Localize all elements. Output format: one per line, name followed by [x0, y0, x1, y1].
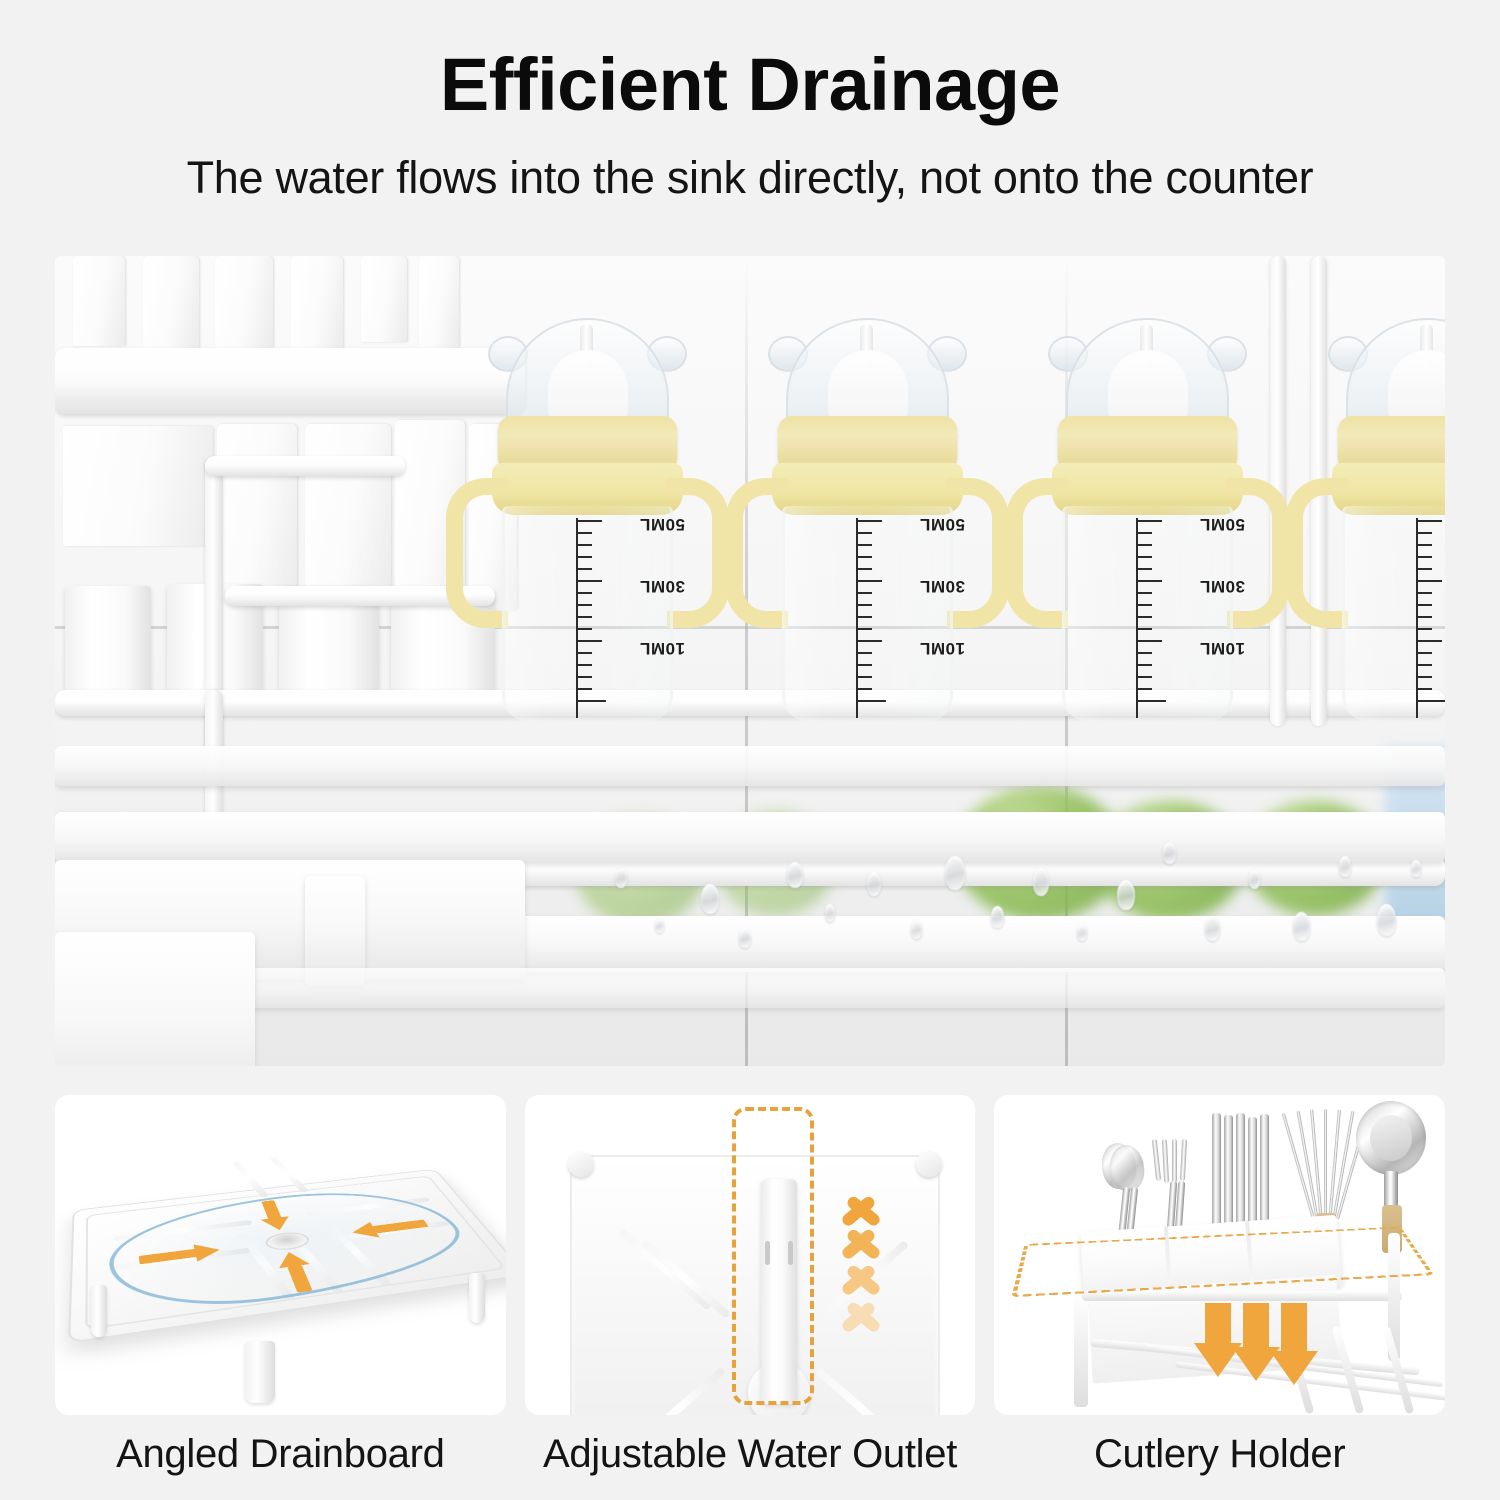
tray-groove	[641, 1239, 731, 1319]
water-droplet	[615, 868, 627, 888]
water-droplet	[1117, 880, 1135, 910]
corner-knob	[568, 1151, 594, 1177]
feature-panels-row	[55, 1095, 1445, 1415]
rack-upper-shelf	[55, 348, 525, 414]
drainboard-lip	[55, 968, 1445, 1008]
bottle-scale-label: 10ML	[794, 638, 965, 658]
tray-groove	[814, 1367, 910, 1415]
water-droplet	[1377, 904, 1396, 936]
baby-bottle: 50ML 30ML 10ML	[1320, 318, 1445, 718]
bottle-measure-scale	[856, 518, 858, 718]
panel-cutlery-holder	[994, 1095, 1445, 1415]
water-droplet	[911, 920, 922, 939]
water-droplet	[1077, 924, 1087, 941]
page-subtitle: The water flows into the sink directly, …	[0, 152, 1500, 204]
baby-bottle: 50ML 30ML 10ML	[760, 318, 975, 718]
plate-stack	[63, 426, 213, 546]
bottle-scale-label: 50ML	[1074, 514, 1245, 534]
feature-captions-row: Angled Drainboard Adjustable Water Outle…	[55, 1432, 1445, 1492]
bottle-measure-scale	[576, 518, 578, 718]
bottle-handle	[1227, 478, 1289, 628]
water-droplet	[701, 884, 719, 914]
tray-channel	[269, 1157, 309, 1192]
drainboard-tray	[68, 1169, 506, 1344]
baby-bottle: 50ML 30ML 10ML	[1040, 318, 1255, 718]
water-droplet	[739, 928, 751, 948]
water-droplet	[1205, 916, 1220, 941]
plate	[291, 256, 343, 354]
rack-tray-edge	[55, 812, 1445, 862]
rack-tray-edge	[55, 746, 1445, 786]
plate	[73, 256, 125, 346]
plate	[143, 256, 199, 352]
bottle-scale-label: 30ML	[794, 576, 965, 596]
hero-photo-drainage: 50ML 30ML 10ML	[55, 256, 1445, 1066]
baby-bottle: 50ML 30ML 10ML	[480, 318, 695, 718]
water-droplet	[655, 918, 664, 933]
bottle-scale-label: 30ML	[1354, 576, 1445, 596]
highlight-dashed-box	[732, 1107, 814, 1405]
bottle-scale-label: 50ML	[514, 514, 685, 534]
cup	[65, 586, 151, 706]
water-droplet	[1249, 870, 1260, 889]
bottle-handle	[667, 478, 729, 628]
bottle-scale-label: 10ML	[1074, 638, 1245, 658]
water-droplet	[1411, 860, 1421, 877]
bottle-handle	[947, 478, 1009, 628]
bottle-handle	[1286, 478, 1348, 628]
bottle-scale-label: 10ML	[514, 638, 685, 658]
rack-wire	[1074, 1291, 1088, 1407]
water-droplet	[867, 872, 881, 896]
page-header: Efficient Drainage The water flows into …	[0, 0, 1500, 204]
rack-base-column	[55, 932, 255, 1066]
bottle-scale-label: 10ML	[1354, 638, 1445, 658]
bottle-measure-scale	[1136, 518, 1138, 718]
plate	[305, 424, 391, 599]
water-droplet	[1033, 868, 1049, 896]
bottle-scale-label: 30ML	[514, 576, 685, 596]
caption-cutlery-holder: Cutlery Holder	[994, 1432, 1445, 1492]
plate	[215, 256, 273, 348]
bottle-measure-scale	[1416, 518, 1418, 718]
up-chevron-icon	[835, 1281, 887, 1333]
bottle-scale-label: 50ML	[1354, 514, 1445, 534]
water-droplet	[825, 904, 835, 922]
corner-knob	[916, 1151, 942, 1177]
plate	[217, 424, 297, 594]
bottle-handle	[1006, 478, 1068, 628]
caption-angled-drainboard: Angled Drainboard	[55, 1432, 506, 1492]
plate	[419, 256, 459, 348]
water-droplet	[1293, 912, 1310, 941]
bottle-scale-label: 50ML	[794, 514, 965, 534]
bottle-scale-label: 30ML	[1074, 576, 1245, 596]
water-droplet	[945, 856, 965, 890]
tray-groove	[618, 1227, 712, 1310]
caption-adjustable-water-outlet: Adjustable Water Outlet	[525, 1432, 976, 1492]
rack-wire	[1082, 1291, 1402, 1301]
tray-leg	[91, 1285, 107, 1337]
plate	[361, 256, 407, 342]
rack-rail	[205, 456, 405, 476]
water-droplet	[1163, 842, 1176, 864]
water-droplet	[1339, 856, 1351, 877]
tray-leg	[469, 1273, 485, 1323]
panel-angled-drainboard	[55, 1095, 506, 1415]
tray-channel	[232, 1161, 269, 1197]
water-droplet	[991, 906, 1004, 928]
bottle-handle	[446, 478, 508, 628]
tray-groove	[630, 1367, 726, 1415]
panel-adjustable-water-outlet	[525, 1095, 976, 1415]
tray-leg	[245, 1341, 275, 1403]
bottle-handle	[726, 478, 788, 628]
water-droplet	[787, 862, 803, 888]
page-title: Efficient Drainage	[0, 48, 1500, 122]
